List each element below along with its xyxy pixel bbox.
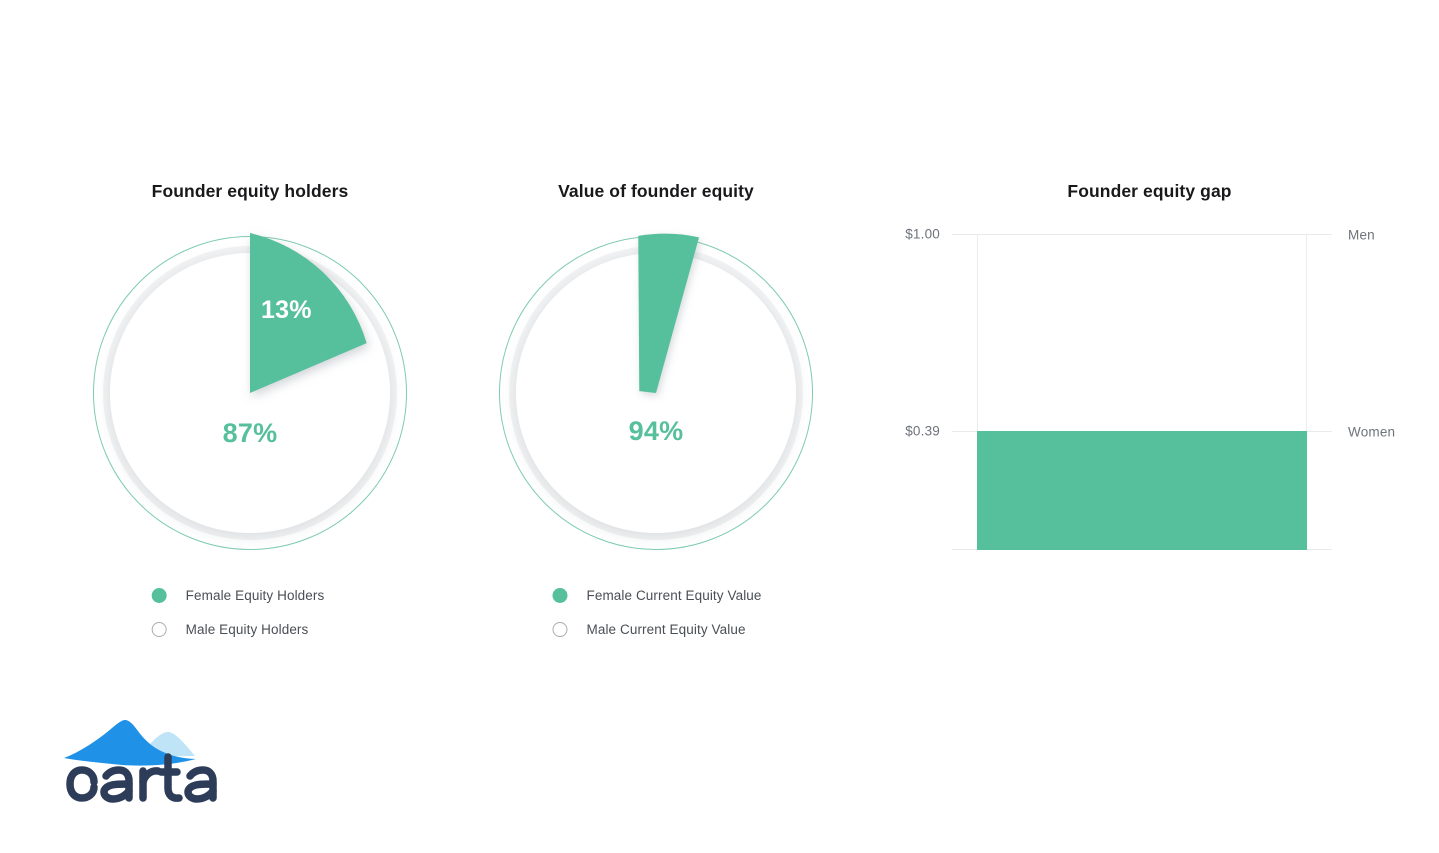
legend-item-male-current-equity-value[interactable]: Male Current Equity Value [552,612,761,646]
axis-label-women-value: $0.39 [905,424,940,439]
chart-title-founder-equity-gap: Founder equity gap [860,181,1439,202]
legend-item-female-equity-holders[interactable]: Female Equity Holders [152,578,325,612]
chart-title-value-of-founder-equity: Value of founder equity [406,181,906,202]
pie-minor-percent-label: 13% [261,296,312,325]
legend-founder-equity-holders: Female Equity Holders Male Equity Holder… [152,578,325,646]
carta-logo [62,712,232,804]
chart-panel-value-of-founder-equity: Value of founder equity 94% 6% Female Cu… [406,0,906,853]
legend-swatch-filled-circle-icon [552,588,567,603]
pie-chart-founder-equity-holders [90,233,410,553]
pie-chart-value-of-founder-equity [496,233,816,553]
legend-label: Female Current Equity Value [586,588,761,603]
axis-label-women: Women [1348,425,1395,440]
legend-label: Female Equity Holders [186,588,325,603]
chart-panel-founder-equity-gap: Founder equity gap $1.00 $0.39 Men Women [860,0,1439,853]
infographic-canvas: Founder equity holders 87% 13% Female Eq… [0,0,1439,853]
legend-value-of-founder-equity: Female Current Equity Value Male Current… [552,578,761,646]
pie-slice-group [496,233,816,553]
legend-item-male-equity-holders[interactable]: Male Equity Holders [152,612,325,646]
axis-label-men: Men [1348,228,1375,243]
pie-major-percent-label: 94% [406,416,906,447]
bar-chart-founder-equity-gap: $1.00 $0.39 Men Women [952,234,1332,550]
axis-label-men-value: $1.00 [905,227,940,242]
legend-item-female-current-equity-value[interactable]: Female Current Equity Value [552,578,761,612]
pie-slice-group [90,233,410,553]
legend-label: Male Current Equity Value [586,622,745,637]
legend-label: Male Equity Holders [186,622,309,637]
legend-swatch-filled-circle-icon [152,588,167,603]
bar-women [977,431,1307,550]
pie-slice-female-current-equity-value [638,234,699,393]
legend-swatch-hollow-circle-icon [552,622,567,637]
legend-swatch-hollow-circle-icon [152,622,167,637]
